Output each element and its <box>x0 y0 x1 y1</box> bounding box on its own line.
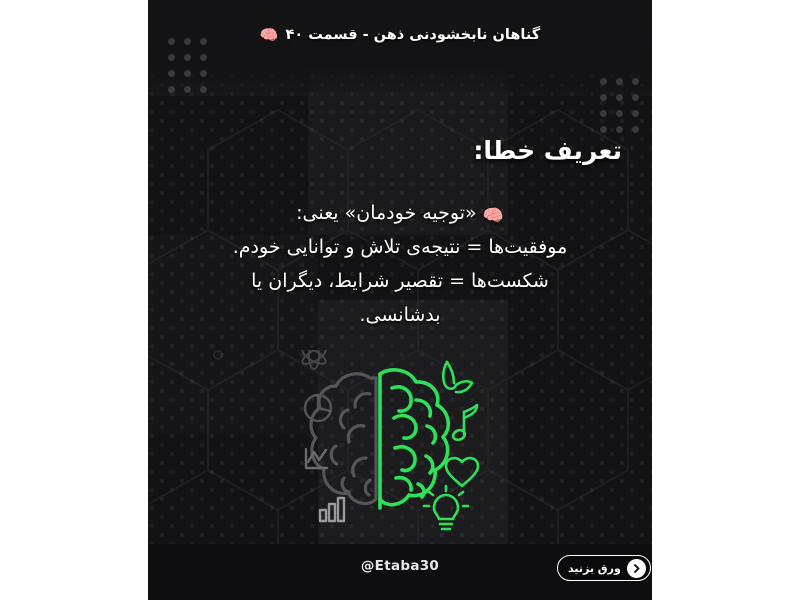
header-band <box>148 0 652 96</box>
body-line: بدشانسی. <box>148 298 652 332</box>
split-brain-illustration <box>296 350 516 540</box>
bar-chart-icon <box>320 498 344 521</box>
swipe-button-label: ورق بزنید <box>568 562 621 575</box>
header: 🧠 گناهان نابخشودنی ذهن - قسمت ۴۰ <box>148 27 652 43</box>
paintbrush-icon <box>443 362 472 392</box>
body-line-text: «توجیه خودمان» یعنی: <box>296 202 476 224</box>
bg-plate <box>508 0 652 96</box>
page-title: تعریف خطا: <box>473 136 622 165</box>
lightbulb-icon <box>424 486 468 529</box>
body-line-text: شکست‌ها = تقصیر شرایط، دیگران یا <box>251 270 549 292</box>
bg-plate <box>148 0 308 96</box>
body-line-text: موفقیت‌ها = نتیجه‌ی تلاش و توانایی خودم. <box>233 236 568 258</box>
brain-icon: 🧠 <box>483 208 504 225</box>
brain-right-half-icon <box>380 370 448 508</box>
heart-icon <box>446 458 478 486</box>
body-line-text: بدشانسی. <box>359 304 440 326</box>
atom-icon <box>300 350 328 369</box>
music-note-icon <box>452 405 477 442</box>
header-title: گناهان نابخشودنی ذهن - قسمت ۴۰ <box>286 27 541 43</box>
page-root: 🧠 گناهان نابخشودنی ذهن - قسمت ۴۰ تعریف خ… <box>0 0 800 600</box>
dot-grid-top-right <box>600 78 639 133</box>
dot-grid-top-left <box>168 38 207 93</box>
body-text-block: 🧠 «توجیه خودمان» یعنی: موفقیت‌ها = نتیجه… <box>148 196 652 332</box>
chevron-right-icon <box>627 559 646 578</box>
swipe-button[interactable]: ورق بزنید <box>557 555 651 581</box>
brain-icon: 🧠 <box>260 28 279 43</box>
footer: @Etaba30 ورق بزنید <box>148 544 652 600</box>
brain-left-half-icon <box>311 374 376 504</box>
post-canvas: 🧠 گناهان نابخشودنی ذهن - قسمت ۴۰ تعریف خ… <box>148 0 652 600</box>
pie-chart-icon <box>305 395 331 421</box>
body-line: شکست‌ها = تقصیر شرایط، دیگران یا <box>148 264 652 298</box>
body-line: موفقیت‌ها = نتیجه‌ی تلاش و توانایی خودم. <box>148 230 652 264</box>
body-line: 🧠 «توجیه خودمان» یعنی: <box>148 196 652 230</box>
